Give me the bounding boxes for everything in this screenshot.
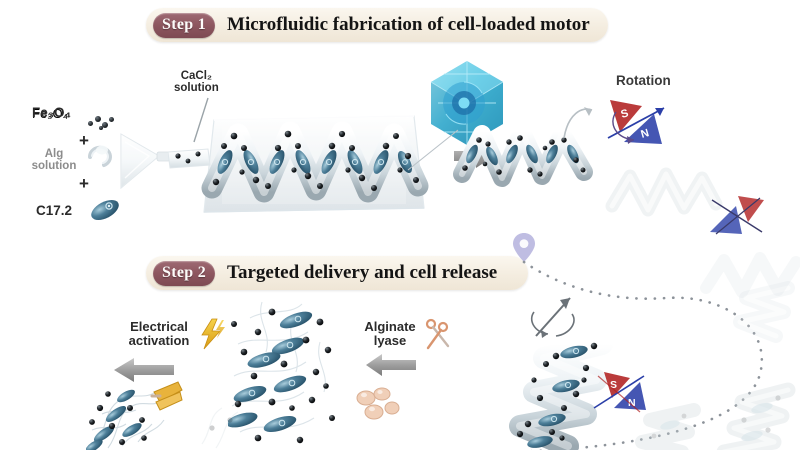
neural-stem-cell-icon — [88, 196, 122, 229]
rotation-label: Rotation — [616, 74, 671, 89]
alginate-droplet-icon — [86, 144, 116, 175]
helical-motor-in-chamber — [198, 112, 434, 216]
figure-canvas: Step 1 Microfluidic fabrication of cell-… — [0, 0, 800, 450]
step-1-banner: Step 1 Microfluidic fabrication of cell-… — [146, 8, 608, 42]
step-2-banner: Step 2 Targeted delivery and cell releas… — [146, 256, 528, 290]
fe3o4-label: Fe₃O₄ — [32, 106, 71, 121]
microfluidic-nozzle — [115, 130, 171, 197]
rotating-magnet-icon-1: S N — [600, 92, 672, 159]
faded-motor-5 — [596, 406, 706, 450]
rotating-magnet-icon-2 — [704, 188, 770, 249]
cacl2-solution-label: CaCl₂ solution — [174, 70, 219, 95]
step-1-title: Microfluidic fabrication of cell-loaded … — [227, 14, 590, 36]
step-1-badge: Step 1 — [153, 13, 215, 38]
alginate-lyase-label: Alginate lyase — [354, 320, 426, 348]
scissors-icon — [424, 318, 454, 355]
alg-solution-label: Alg solution — [26, 148, 82, 173]
lightning-bolt-icon — [198, 318, 226, 355]
left-arrow-2 — [364, 352, 418, 383]
c17-2-label: C17.2 — [36, 204, 72, 219]
residual-gel-fragments — [196, 398, 256, 450]
rotation-curve-icon — [558, 100, 598, 149]
electrical-activation-label: Electrical activation — [118, 320, 200, 348]
faded-motor-3 — [706, 282, 800, 342]
step-2-title: Targeted delivery and cell release — [227, 262, 497, 284]
plus-sign-2: + — [79, 174, 89, 194]
step-2-badge: Step 2 — [153, 261, 215, 286]
